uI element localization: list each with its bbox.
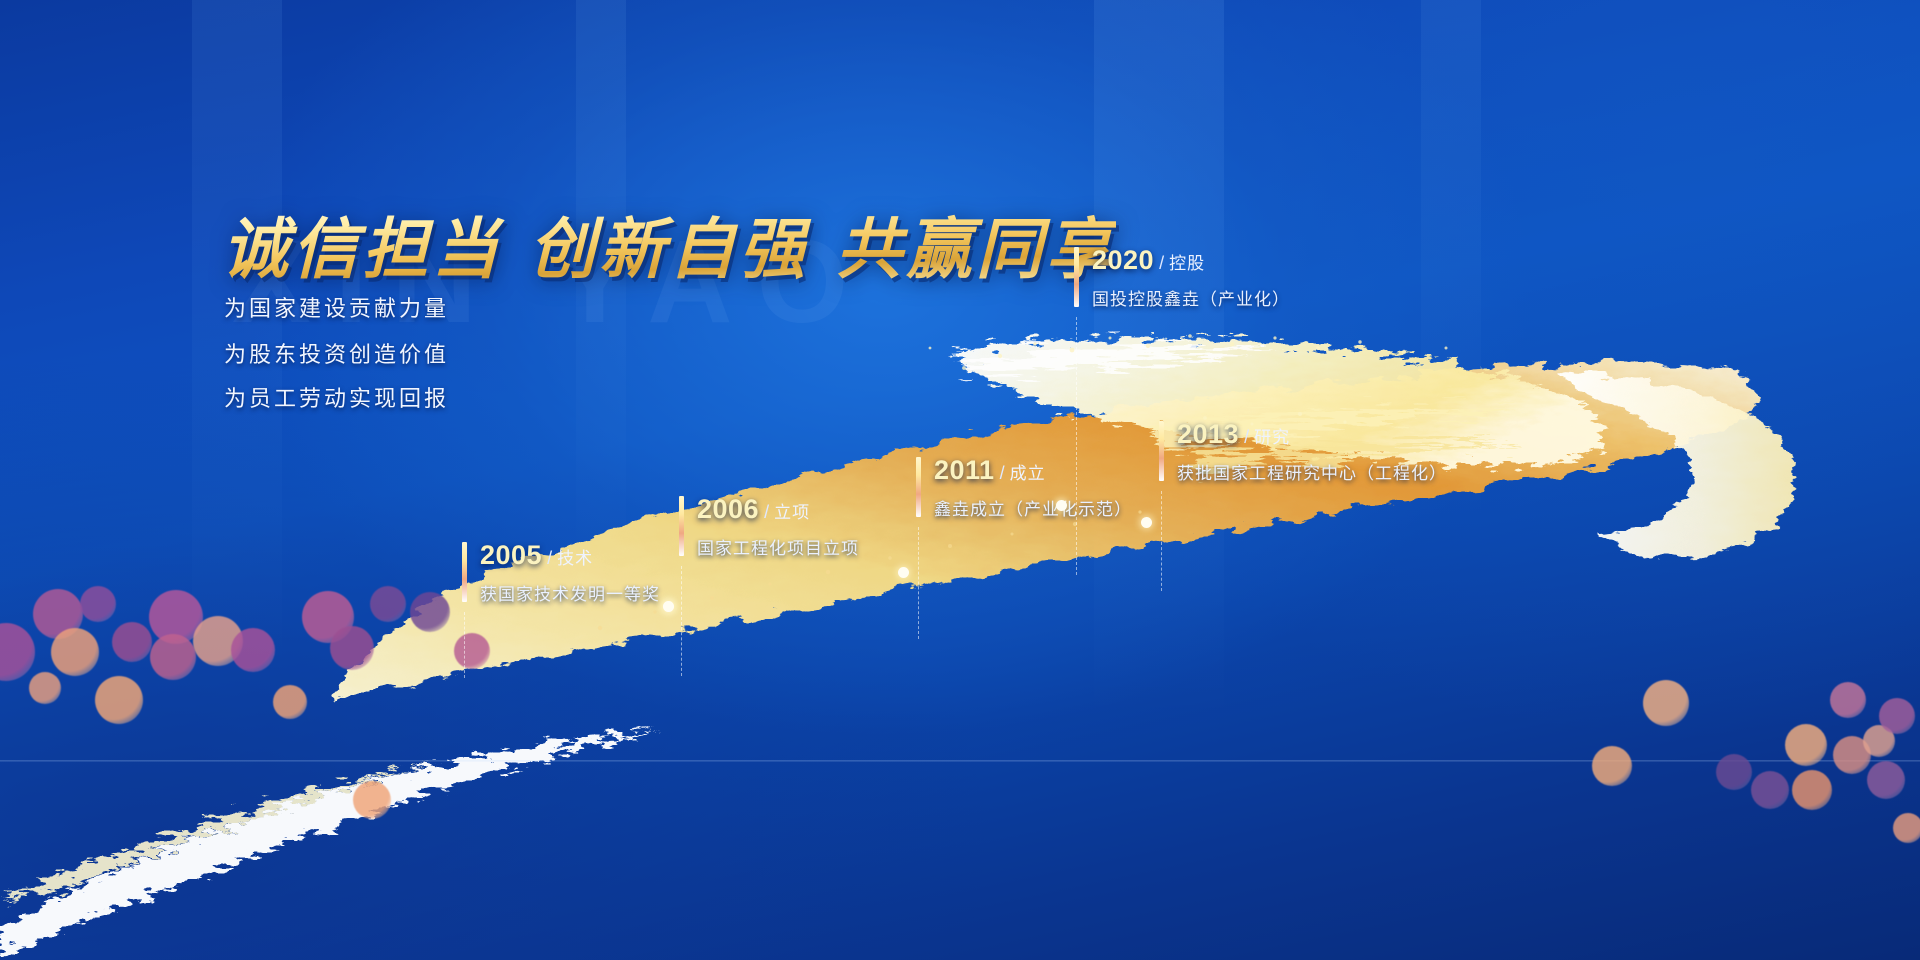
milestone-accent-bar bbox=[1074, 247, 1079, 307]
milestone-year: 2013 bbox=[1177, 419, 1239, 450]
milestone-accent-bar bbox=[1159, 421, 1164, 481]
timeline-milestone-2013[interactable]: 2013/研究获批国家工程研究中心（工程化） bbox=[1159, 419, 1447, 484]
bokeh-dot bbox=[1592, 746, 1632, 786]
milestone-accent-bar bbox=[679, 496, 684, 556]
bokeh-dot bbox=[1785, 724, 1827, 766]
milestone-separator: / bbox=[1244, 427, 1249, 448]
milestone-separator: / bbox=[1159, 253, 1164, 274]
bokeh-dot bbox=[29, 672, 61, 704]
milestone-description: 国家工程化项目立项 bbox=[697, 534, 859, 559]
timeline-milestone-2020[interactable]: 2020/控股国投控股鑫垚（产业化） bbox=[1074, 245, 1290, 310]
slogan-line-1: 为国家建设贡献力量 bbox=[224, 291, 449, 323]
bokeh-dot bbox=[1893, 813, 1920, 843]
bokeh-dot bbox=[231, 628, 275, 672]
milestone-year: 2011 bbox=[934, 455, 995, 486]
milestone-accent-bar bbox=[916, 457, 921, 517]
milestone-description: 鑫垚成立（产业化示范） bbox=[934, 495, 1132, 520]
bokeh-dot bbox=[410, 592, 450, 632]
bokeh-dot bbox=[95, 676, 143, 724]
bokeh-dot bbox=[150, 634, 196, 680]
timeline-milestone-2011[interactable]: 2011/成立鑫垚成立（产业化示范） bbox=[916, 455, 1132, 520]
milestone-heading: 2011/成立 bbox=[934, 455, 1132, 486]
milestone-year: 2006 bbox=[697, 494, 759, 525]
bokeh-dot bbox=[80, 586, 116, 622]
bokeh-dot bbox=[353, 781, 391, 819]
milestone-separator: / bbox=[764, 502, 769, 523]
bokeh-dot bbox=[112, 622, 152, 662]
milestone-dot[interactable] bbox=[898, 567, 909, 578]
bokeh-dot bbox=[370, 586, 406, 622]
milestone-tag: 控股 bbox=[1169, 249, 1205, 274]
milestone-tag: 成立 bbox=[1010, 459, 1046, 484]
bokeh-dot bbox=[1879, 698, 1915, 734]
slogan-line-3: 为员工劳动实现回报 bbox=[224, 381, 449, 413]
milestone-tag: 研究 bbox=[1254, 423, 1290, 448]
bokeh-dot bbox=[330, 626, 374, 670]
milestone-dot[interactable] bbox=[1056, 500, 1067, 511]
milestone-leader-line bbox=[1161, 491, 1162, 591]
bokeh-dot bbox=[454, 633, 490, 669]
bokeh-dot bbox=[51, 628, 99, 676]
milestone-description: 获国家技术发明一等奖 bbox=[480, 580, 660, 605]
banner-canvas: XIN YAO 诚信担当 创新自强 共赢同享 为国家建设贡献力量 为股东投资创造… bbox=[0, 0, 1920, 960]
milestone-description: 国投控股鑫垚（产业化） bbox=[1092, 285, 1290, 310]
milestone-leader-line bbox=[464, 612, 465, 678]
timeline-milestone-2005[interactable]: 2005/技术获国家技术发明一等奖 bbox=[462, 540, 660, 605]
milestone-leader-line bbox=[681, 566, 682, 676]
bokeh-dot bbox=[1792, 770, 1832, 810]
milestone-heading: 2005/技术 bbox=[480, 540, 660, 571]
milestone-year: 2020 bbox=[1092, 245, 1154, 276]
milestone-description: 获批国家工程研究中心（工程化） bbox=[1177, 459, 1447, 484]
milestone-leader-line bbox=[918, 527, 919, 639]
milestone-dot[interactable] bbox=[663, 601, 674, 612]
milestone-separator: / bbox=[547, 548, 552, 569]
milestone-year: 2005 bbox=[480, 540, 542, 571]
slogan-line-2: 为股东投资创造价值 bbox=[224, 337, 449, 369]
timeline-milestone-2006[interactable]: 2006/立项国家工程化项目立项 bbox=[679, 494, 859, 559]
bokeh-dot bbox=[1867, 761, 1905, 799]
milestone-leader-line bbox=[1076, 317, 1077, 575]
milestone-dot[interactable] bbox=[1141, 517, 1152, 528]
bokeh-dot bbox=[273, 685, 307, 719]
milestone-tag: 技术 bbox=[557, 544, 593, 569]
milestone-separator: / bbox=[1000, 463, 1005, 484]
bokeh-dot bbox=[1830, 682, 1866, 718]
milestone-heading: 2013/研究 bbox=[1177, 419, 1447, 450]
milestone-heading: 2006/立项 bbox=[697, 494, 859, 525]
milestone-accent-bar bbox=[462, 542, 467, 602]
bokeh-dot bbox=[1643, 680, 1689, 726]
page-title: 诚信担当 创新自强 共赢同享 bbox=[222, 196, 1116, 292]
milestone-heading: 2020/控股 bbox=[1092, 245, 1290, 276]
milestone-tag: 立项 bbox=[774, 498, 810, 523]
bokeh-dot bbox=[1751, 771, 1789, 809]
bokeh-dot bbox=[1716, 754, 1752, 790]
